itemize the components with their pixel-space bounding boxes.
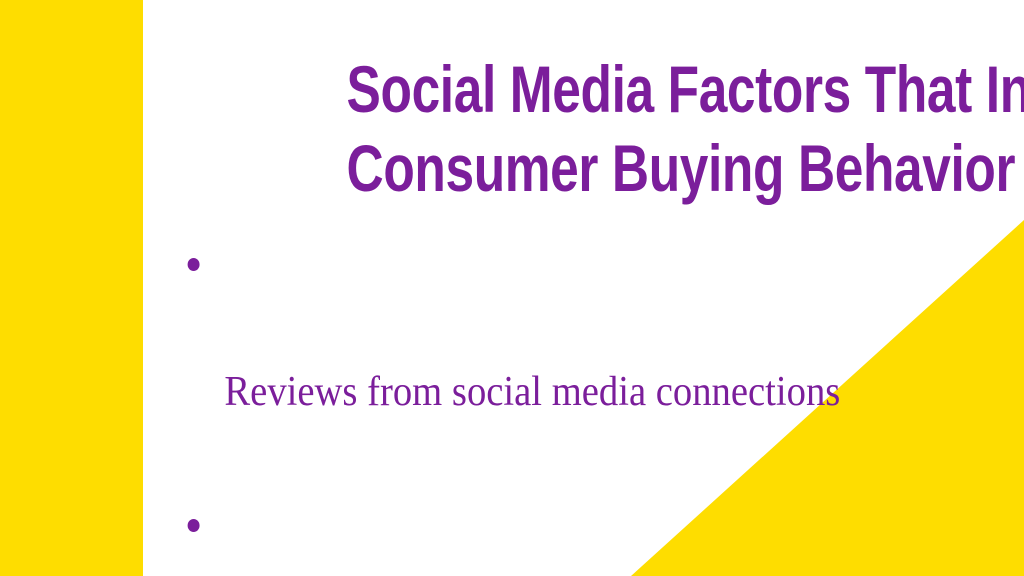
list-item-label: Reviews from social media connections — [224, 360, 919, 424]
round-bullet-icon — [188, 258, 200, 271]
slide-canvas: Social Media Factors That Influence Cons… — [0, 0, 1024, 576]
list-item: Reviews from influencers — [183, 493, 919, 576]
list-item: Reviews from social media connections — [183, 232, 919, 488]
left-yellow-bar — [0, 0, 143, 576]
title-line-1: Social Media Factors That Influence — [347, 50, 1008, 129]
slide-title: Social Media Factors That Influence Cons… — [160, 50, 1008, 208]
bullet-list: Reviews from social media connections Re… — [183, 232, 983, 576]
title-line-2: Consumer Buying Behavior — [347, 129, 1008, 208]
round-bullet-icon — [188, 519, 200, 532]
